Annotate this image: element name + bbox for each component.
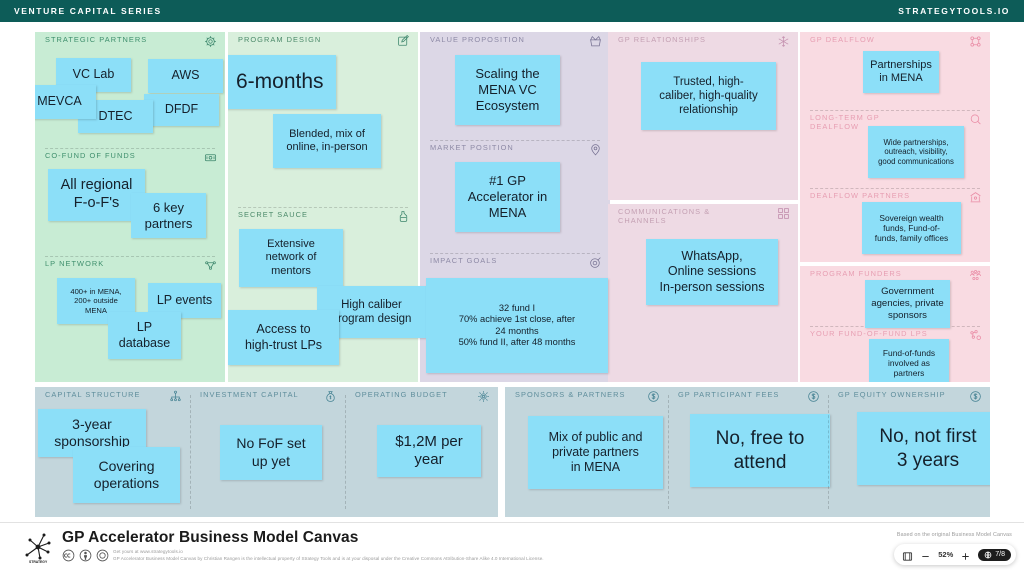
grid-squares-icon [777, 207, 790, 220]
nodes-cluster-icon [969, 35, 982, 48]
section-title: DEALFLOW PARTNERS [810, 191, 910, 200]
share-alike-icon [96, 549, 109, 562]
attribution-icon [79, 549, 92, 562]
pane-partners[interactable]: STRATEGIC PARTNERS VC Lab AWS DFDF DTEC … [35, 32, 225, 382]
section-title: SECRET SAUCE [238, 210, 308, 219]
section-operating-budget[interactable]: OPERATING BUDGET $1,2M per year [345, 387, 498, 517]
section-capital-structure[interactable]: CAPITAL STRUCTURE 3-year sponsorship Cov… [35, 387, 190, 517]
section-co-fund-of-funds[interactable]: CO-FUND OF FUNDS All regional F-o-F's 6 … [35, 148, 225, 256]
chat-search-icon [969, 113, 982, 126]
note-aws[interactable]: AWS [148, 59, 223, 93]
note-fund-of-funds-partners[interactable]: Fund-of-funds involved as partners [869, 339, 949, 382]
gift-icon [589, 35, 602, 48]
note-government-agencies[interactable]: Government agencies, private sponsors [865, 280, 950, 328]
design-pencil-icon [397, 35, 410, 48]
section-title: OPERATING BUDGET [355, 390, 448, 399]
sauce-bottle-icon [397, 210, 410, 223]
zoom-in-button[interactable] [960, 549, 971, 560]
money-bag-icon [324, 390, 337, 403]
section-gp-participant-fees[interactable]: GP PARTICIPANT FEES No, free to attend [668, 387, 828, 517]
note-blended-mix[interactable]: Blended, mix of online, in-person [273, 114, 381, 168]
org-chart-icon [169, 390, 182, 403]
section-title: PROGRAM FUNDERS [810, 269, 902, 278]
section-title: VALUE PROPOSITION [430, 35, 525, 44]
people-group-icon [969, 269, 982, 282]
note-partnerships-in-mena[interactable]: Partnerships in MENA [863, 51, 939, 93]
note-no-not-first-3-years[interactable]: No, not first 3 years [857, 412, 990, 485]
creative-commons-icon [62, 549, 75, 562]
section-title: STRATEGIC PARTNERS [45, 35, 147, 44]
handshake-money-icon [204, 151, 217, 164]
legal-line-1: Get yours at www.strategytools.io [113, 548, 544, 555]
note-lp-database[interactable]: LP database [108, 312, 181, 359]
note-6-months[interactable]: 6-months [228, 55, 336, 109]
legal-text: Get yours at www.strategytools.io GP Acc… [113, 548, 544, 562]
section-lp-network[interactable]: LP NETWORK 400+ in MENA, 200+ outside ME… [35, 256, 225, 382]
partners-badge-icon [204, 35, 217, 48]
canvas-title: GP Accelerator Business Model Canvas [62, 529, 359, 547]
pane-cost-structure[interactable]: CAPITAL STRUCTURE 3-year sponsorship Cov… [35, 387, 498, 517]
section-title: IMPACT GOALS [430, 256, 497, 265]
note-no-free-to-attend[interactable]: No, free to attend [690, 414, 830, 487]
bank-person-icon [969, 191, 982, 204]
note-mix-public-private[interactable]: Mix of public and private partners in ME… [528, 416, 663, 489]
creative-commons-badges [62, 549, 109, 562]
pane-dealflow[interactable]: GP DEALFLOW Partnerships in MENA LONG-TE… [800, 32, 990, 262]
pane-revenue-streams[interactable]: SPONSORS & PARTNERS Mix of public and pr… [505, 387, 990, 517]
network-money-icon [969, 329, 982, 342]
section-market-position[interactable]: MARKET POSITION #1 GP Accelerator in MEN… [420, 140, 610, 253]
section-title: PROGRAM DESIGN [238, 35, 321, 44]
business-model-canvas[interactable]: STRATEGIC PARTNERS VC Lab AWS DFDF DTEC … [0, 22, 1024, 522]
note-covering-operations[interactable]: Covering operations [73, 447, 180, 503]
section-sponsors-partners[interactable]: SPONSORS & PARTNERS Mix of public and pr… [505, 387, 668, 517]
section-gp-dealflow[interactable]: GP DEALFLOW Partnerships in MENA [800, 32, 990, 110]
dollar-circle-icon [969, 390, 982, 403]
based-on-note: Based on the original Business Model Can… [897, 532, 1012, 538]
section-long-term-gp-dealflow[interactable]: LONG-TERM GP DEALFLOW Wide partnerships,… [800, 110, 990, 188]
note-operating-budget-amount[interactable]: $1,2M per year [377, 425, 481, 477]
note-access-high-trust-lps[interactable]: Access to high-trust LPs [228, 310, 339, 365]
section-title: GP EQUITY OWNERSHIP [838, 390, 946, 399]
dollar-circle-icon [647, 390, 660, 403]
note-no-fof-set-up[interactable]: No FoF set up yet [220, 425, 322, 480]
section-title: GP RELATIONSHIPS [618, 35, 706, 44]
section-your-fund-of-fund-lps[interactable]: YOUR FUND-OF-FUND LPs Fund-of-funds invo… [800, 326, 990, 382]
section-strategic-partners[interactable]: STRATEGIC PARTNERS VC Lab AWS DFDF DTEC … [35, 32, 225, 148]
note-whatsapp-sessions[interactable]: WhatsApp, Online sessions In-person sess… [646, 239, 778, 305]
svg-text:STRATEGY: STRATEGY [29, 560, 48, 564]
section-title: COMMUNICATIONS & CHANNELS [618, 207, 710, 225]
pane-funders[interactable]: PROGRAM FUNDERS Government agencies, pri… [800, 266, 990, 382]
section-gp-equity-ownership[interactable]: GP EQUITY OWNERSHIP No, not first 3 year… [828, 387, 990, 517]
page-indicator-label: 7/8 [995, 551, 1005, 558]
note-wide-partnerships[interactable]: Wide partnerships, outreach, visibility,… [868, 126, 964, 178]
section-title: LP NETWORK [45, 259, 104, 268]
section-title: CO-FUND OF FUNDS [45, 151, 136, 160]
section-dealflow-partners[interactable]: DEALFLOW PARTNERS Sovereign wealth funds… [800, 188, 990, 262]
section-gp-relationships[interactable]: GP RELATIONSHIPS Trusted, high- caliber,… [608, 32, 798, 200]
note-dfdf[interactable]: DFDF [144, 94, 219, 126]
section-program-design[interactable]: PROGRAM DESIGN 6-months Blended, mix of … [228, 32, 418, 207]
section-communications-channels[interactable]: COMMUNICATIONS & CHANNELS WhatsApp, Onli… [608, 204, 798, 382]
zoom-toolbar[interactable]: 52% 7/8 [894, 544, 1016, 565]
legal-line-2: GP Accelerator Business Model Canvas by … [113, 555, 544, 562]
section-investment-capital[interactable]: INVESTMENT CAPITAL No FoF set up yet [190, 387, 345, 517]
pane-communications[interactable]: COMMUNICATIONS & CHANNELS WhatsApp, Onli… [608, 204, 798, 382]
canvas-app: VENTURE CAPITAL SERIES STRATEGYTOOLS.IO … [0, 0, 1024, 570]
zoom-level-label[interactable]: 52% [938, 550, 953, 559]
banner-brand-label: STRATEGYTOOLS.IO [898, 6, 1010, 16]
dollar-circle-icon [807, 390, 820, 403]
page-indicator[interactable]: 7/8 [978, 549, 1011, 561]
note-trusted-relationship[interactable]: Trusted, high- caliber, high-quality rel… [641, 62, 776, 130]
section-title: YOUR FUND-OF-FUND LPs [810, 329, 928, 338]
note-mevca[interactable]: MEVCA [35, 85, 96, 119]
fit-to-screen-icon[interactable] [902, 549, 913, 560]
map-pin-icon [589, 143, 602, 156]
note-sovereign-wealth-funds[interactable]: Sovereign wealth funds, Fund-of- funds, … [862, 202, 961, 254]
note-6-key-partners[interactable]: 6 key partners [131, 193, 206, 238]
footer-bar: STRATEGY GP Accelerator Business Model C… [0, 522, 1024, 570]
section-title: SPONSORS & PARTNERS [515, 390, 625, 399]
strategy-tools-logo: STRATEGY [18, 528, 58, 566]
section-title: INVESTMENT CAPITAL [200, 390, 299, 399]
note-scaling-mena-vc[interactable]: Scaling the MENA VC Ecosystem [455, 55, 560, 125]
top-banner: VENTURE CAPITAL SERIES STRATEGYTOOLS.IO [0, 0, 1024, 22]
note-impact-goals-detail[interactable]: 32 fund I 70% achieve 1st close, after 2… [426, 278, 608, 373]
section-value-proposition[interactable]: VALUE PROPOSITION Scaling the MENA VC Ec… [420, 32, 610, 140]
snowflake-icon [777, 35, 790, 48]
section-title: CAPITAL STRUCTURE [45, 390, 140, 399]
note-1-gp-accelerator[interactable]: #1 GP Accelerator in MENA [455, 162, 560, 232]
banner-series-label: VENTURE CAPITAL SERIES [14, 6, 162, 16]
section-title: GP DEALFLOW [810, 35, 875, 44]
note-extensive-network[interactable]: Extensive network of mentors [239, 229, 343, 287]
section-title: GP PARTICIPANT FEES [678, 390, 779, 399]
section-program-funders[interactable]: PROGRAM FUNDERS Government agencies, pri… [800, 266, 990, 326]
zoom-out-button[interactable] [920, 549, 931, 560]
gear-coin-icon [477, 390, 490, 403]
network-nodes-icon [204, 259, 217, 272]
section-title: MARKET POSITION [430, 143, 514, 152]
pane-gp-relationships[interactable]: GP RELATIONSHIPS Trusted, high- caliber,… [608, 32, 798, 200]
target-icon [589, 256, 602, 269]
